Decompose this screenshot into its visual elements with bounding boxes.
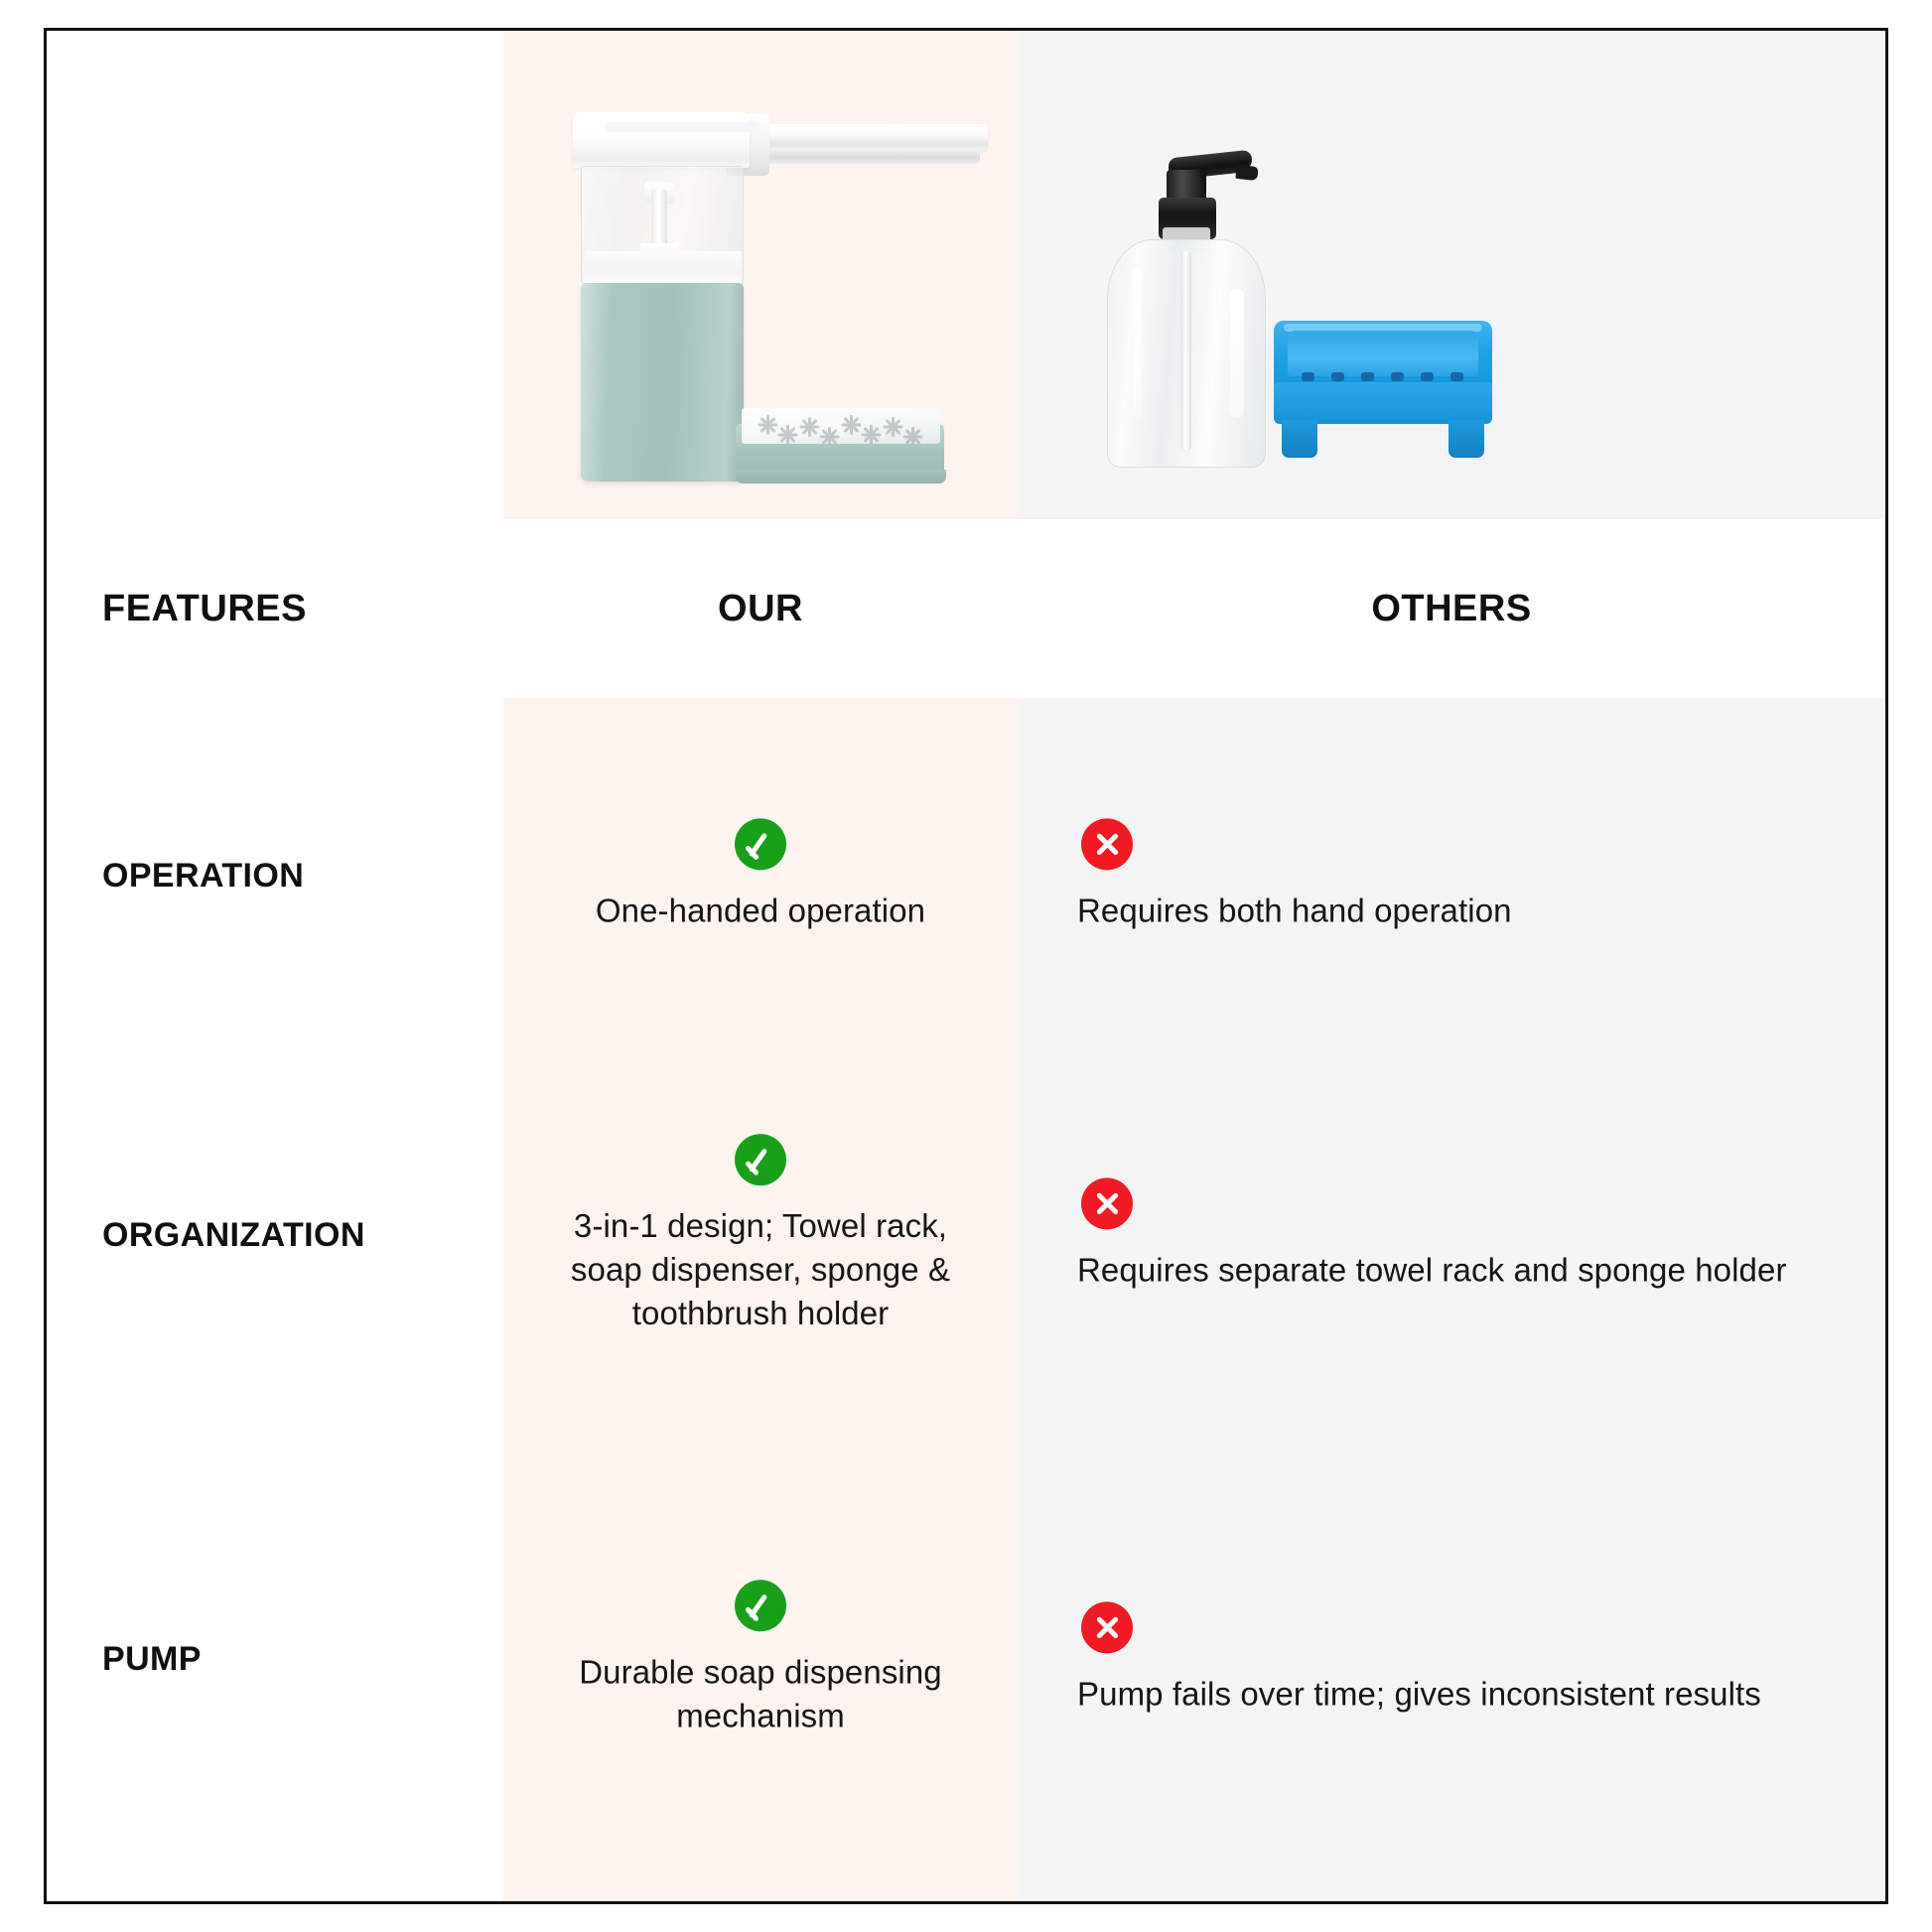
hero-cell-features	[47, 31, 503, 519]
cross-circle-icon	[1081, 818, 1133, 870]
towel-rack-arm-upper	[746, 124, 988, 150]
soap-dish-leg-right	[1449, 420, 1484, 458]
cross-circle-icon	[1081, 1601, 1133, 1653]
column-header-features: FEATURES	[47, 519, 503, 698]
dispenser-mint-body	[581, 283, 744, 482]
drain-hole-icon	[758, 414, 779, 436]
others-value-text: Pump fails over time; gives inconsistent…	[1077, 1672, 1846, 1716]
towel-rack-arm-lower	[746, 148, 980, 164]
soap-dish-drain-hole	[1391, 372, 1404, 381]
soap-dish-drain-hole	[1302, 372, 1314, 381]
drain-hole-icon	[819, 426, 841, 444]
pump-nozzle-tip	[1235, 165, 1258, 181]
hero-image-row	[47, 31, 1885, 519]
reservoir-inner-shelf	[585, 251, 742, 285]
table-row: OPERATION One-handed operation Requires …	[47, 698, 1885, 1056]
our-value-text: One-handed operation	[547, 889, 974, 932]
sponge-tray-perforated-plate	[742, 408, 940, 444]
dispenser-press-cap	[573, 112, 750, 168]
others-value-cell: Requires separate towel rack and sponge …	[1018, 1053, 1885, 1417]
blue-soap-dish-image	[1274, 321, 1492, 460]
soap-dispenser-caddy-image	[551, 104, 988, 501]
cap-highlight	[605, 122, 759, 132]
soap-dish-drain-hole	[1361, 372, 1374, 381]
clear-pump-bottle-image	[1107, 140, 1266, 468]
table-row: ORGANIZATION 3-in-1 design; Towel rack, …	[47, 1053, 1885, 1420]
drain-hole-icon	[883, 416, 904, 438]
soap-dish-drain-hole	[1331, 372, 1344, 381]
drain-hole-icon	[777, 424, 799, 444]
our-value-text: Durable soap dispensing mechanism	[547, 1650, 974, 1737]
our-value-cell: 3-in-1 design; Towel rack, soap dispense…	[503, 1053, 1018, 1417]
our-value-cell: Durable soap dispensing mechanism	[503, 1417, 1018, 1901]
comparison-table-page: FEATURES OUR OTHERS OPERATION One-handed…	[0, 0, 1932, 1932]
our-value-text: 3-in-1 design; Towel rack, soap dispense…	[547, 1204, 974, 1336]
soap-dish-front-panel	[1274, 382, 1492, 424]
hero-cell-others	[1018, 31, 1885, 519]
bottle-highlight-left	[1133, 269, 1142, 418]
soap-dish-leg-left	[1282, 420, 1317, 458]
feature-label: OPERATION	[102, 857, 304, 896]
drain-hole-icon	[799, 416, 821, 438]
others-products-stage	[1018, 31, 1885, 519]
cross-circle-icon	[1081, 1177, 1133, 1229]
feature-name-cell: PUMP	[47, 1417, 503, 1901]
table-row: PUMP Durable soap dispensing mechanism P…	[47, 1417, 1885, 1901]
bottle-dip-tube	[1180, 251, 1191, 450]
our-value-cell: One-handed operation	[503, 698, 1018, 1053]
feature-name-cell: OPERATION	[47, 698, 503, 1053]
others-value-cell: Pump fails over time; gives inconsistent…	[1018, 1417, 1885, 1901]
drain-hole-icon	[902, 426, 924, 444]
others-value-cell: Requires both hand operation	[1018, 698, 1885, 1053]
table-header-row: FEATURES OUR OTHERS	[47, 519, 1885, 701]
drain-hole-icon	[841, 414, 863, 436]
column-header-others-label: OTHERS	[1371, 588, 1531, 630]
column-header-our-label: OUR	[718, 588, 803, 630]
others-value-text: Requires both hand operation	[1077, 889, 1846, 932]
comparison-table: FEATURES OUR OTHERS OPERATION One-handed…	[44, 28, 1888, 1904]
column-header-our: OUR	[503, 519, 1018, 698]
feature-label: ORGANIZATION	[102, 1216, 365, 1255]
column-header-features-label: FEATURES	[102, 588, 307, 630]
drain-hole-icon	[861, 424, 883, 444]
check-circle-icon	[735, 1580, 786, 1631]
sponge-tray-lip	[736, 470, 946, 483]
column-header-others: OTHERS	[1018, 519, 1885, 698]
soap-dish-drain-hole	[1450, 372, 1463, 381]
check-circle-icon	[735, 818, 786, 870]
hero-cell-our	[503, 31, 1018, 519]
feature-label: PUMP	[102, 1640, 202, 1679]
check-circle-icon	[735, 1134, 786, 1185]
feature-name-cell: ORGANIZATION	[47, 1053, 503, 1417]
soap-dish-drain-hole	[1421, 372, 1434, 381]
soap-dish-inner-tray	[1288, 331, 1478, 376]
bottle-highlight-right	[1230, 289, 1244, 418]
others-value-text: Requires separate towel rack and sponge …	[1077, 1248, 1846, 1292]
